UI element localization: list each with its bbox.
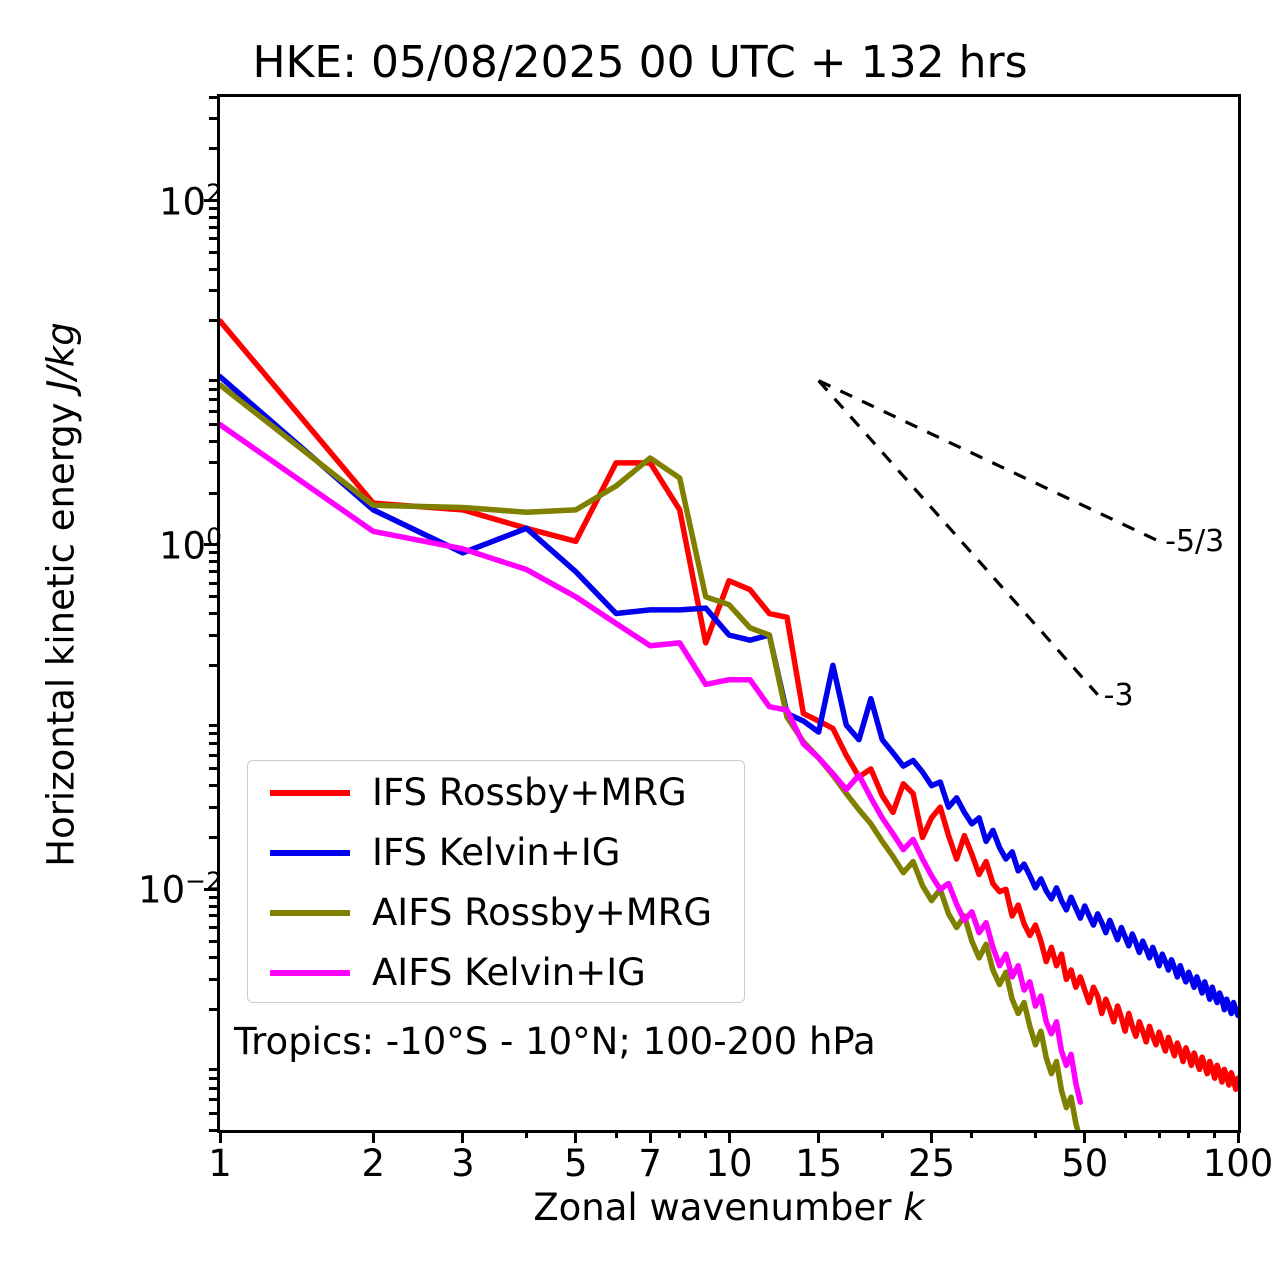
x-axis-label-text: Zonal wavenumber [533,1186,903,1229]
slope-label-minus-5-3: -5/3 [1165,524,1224,559]
y-tick [209,1068,217,1071]
legend-swatch-ifs-rossby-mrg [270,790,350,796]
y-tick [209,1008,217,1011]
y-tick [209,732,217,735]
x-tick [1158,1130,1161,1138]
y-tick [209,226,217,229]
y-tick [209,379,217,382]
y-tick-label-1e2: 102 [159,178,222,223]
x-tick [678,1130,681,1138]
y-tick [209,1112,217,1115]
y-tick [209,664,217,667]
x-axis-label-symbol: k [903,1186,924,1229]
y-tick [209,940,217,943]
y-tick [209,440,217,443]
y-tick [209,319,217,322]
y-tick [209,956,217,959]
y-axis-label-unit: J/kg [40,322,83,390]
y-tick [209,634,217,637]
x-tick-label-3: 3 [451,1142,475,1185]
slope-line-0 [819,381,1160,542]
y-tick [209,492,217,495]
y-tick [209,1129,217,1132]
y-tick [209,237,217,240]
legend-entry-3[interactable]: AIFS Kelvin+IG [248,943,746,1003]
y-tick [209,754,217,757]
x-axis-label: Zonal wavenumber k [217,1186,1241,1229]
slope-line-1 [819,381,1098,695]
y-tick [209,117,217,120]
legend-swatch-ifs-kelvin-ig [270,850,350,856]
y-tick-label-1e0: 100 [159,522,222,567]
y-tick [209,742,217,745]
y-tick [209,289,217,292]
slope-label-minus-3: -3 [1104,678,1134,713]
y-tick [209,724,217,727]
y-tick [209,836,217,839]
x-tick [1034,1130,1037,1138]
y-tick [209,570,217,573]
y-tick [209,410,217,413]
x-tick-label-100: 100 [1203,1142,1274,1185]
x-tick-label-1: 1 [208,1142,232,1185]
figure-canvas: HKE: 05/08/2025 00 UTC + 132 hrs Horizon… [0,0,1280,1288]
legend-swatch-aifs-kelvin-ig [270,970,350,976]
y-tick [209,147,217,150]
series-line-2 [220,385,1085,1130]
legend-label-ifs-kelvin-ig: IFS Kelvin+IG [372,823,620,883]
legend-label-ifs-rossby-mrg: IFS Rossby+MRG [372,763,687,823]
y-tick [209,767,217,770]
x-tick [1213,1130,1216,1138]
y-tick [209,251,217,254]
legend-label-aifs-kelvin-ig: AIFS Kelvin+IG [372,943,646,1003]
y-tick-label-1e−2: 10−2 [138,867,222,912]
x-tick-label-10: 10 [705,1142,752,1185]
x-tick-label-7: 7 [638,1142,662,1185]
legend-entry-1[interactable]: IFS Kelvin+IG [248,823,746,883]
x-tick-label-25: 25 [908,1142,955,1185]
y-tick [209,926,217,929]
x-tick [1124,1130,1127,1138]
legend-swatch-aifs-rossby-mrg [270,910,350,916]
chart-title: HKE: 05/08/2025 00 UTC + 132 hrs [0,36,1280,90]
y-tick [209,595,217,598]
y-axis-label-text: Horizontal kinetic energy [40,391,83,867]
y-tick [209,914,217,917]
x-tick [970,1130,973,1138]
y-tick [209,1077,217,1080]
y-tick [209,461,217,464]
y-tick [209,96,217,99]
legend-entry-2[interactable]: AIFS Rossby+MRG [248,883,746,943]
y-tick [209,806,217,809]
legend: IFS Rossby+MRG IFS Kelvin+IG AIFS Rossby… [247,760,745,1003]
x-tick-label-50: 50 [1061,1142,1108,1185]
y-tick [209,784,217,787]
y-tick [209,388,217,391]
y-tick [209,582,217,585]
x-tick-label-5: 5 [564,1142,588,1185]
x-tick [1187,1130,1190,1138]
x-tick [525,1130,528,1138]
y-tick [209,1087,217,1090]
x-tick-label-15: 15 [795,1142,842,1185]
x-tick [704,1130,707,1138]
y-tick [209,1098,217,1101]
y-axis-label: Horizontal kinetic energy J/kg [40,245,83,945]
legend-label-aifs-rossby-mrg: AIFS Rossby+MRG [372,883,712,943]
y-tick [209,612,217,615]
y-tick [209,423,217,426]
y-tick [209,268,217,271]
legend-entry-0[interactable]: IFS Rossby+MRG [248,763,746,823]
x-tick [615,1130,618,1138]
y-tick [209,398,217,401]
y-tick [209,978,217,981]
region-annotation: Tropics: -10°S - 10°N; 100-200 hPa [234,1020,876,1063]
x-tick [881,1130,884,1138]
x-tick-label-2: 2 [361,1142,385,1185]
